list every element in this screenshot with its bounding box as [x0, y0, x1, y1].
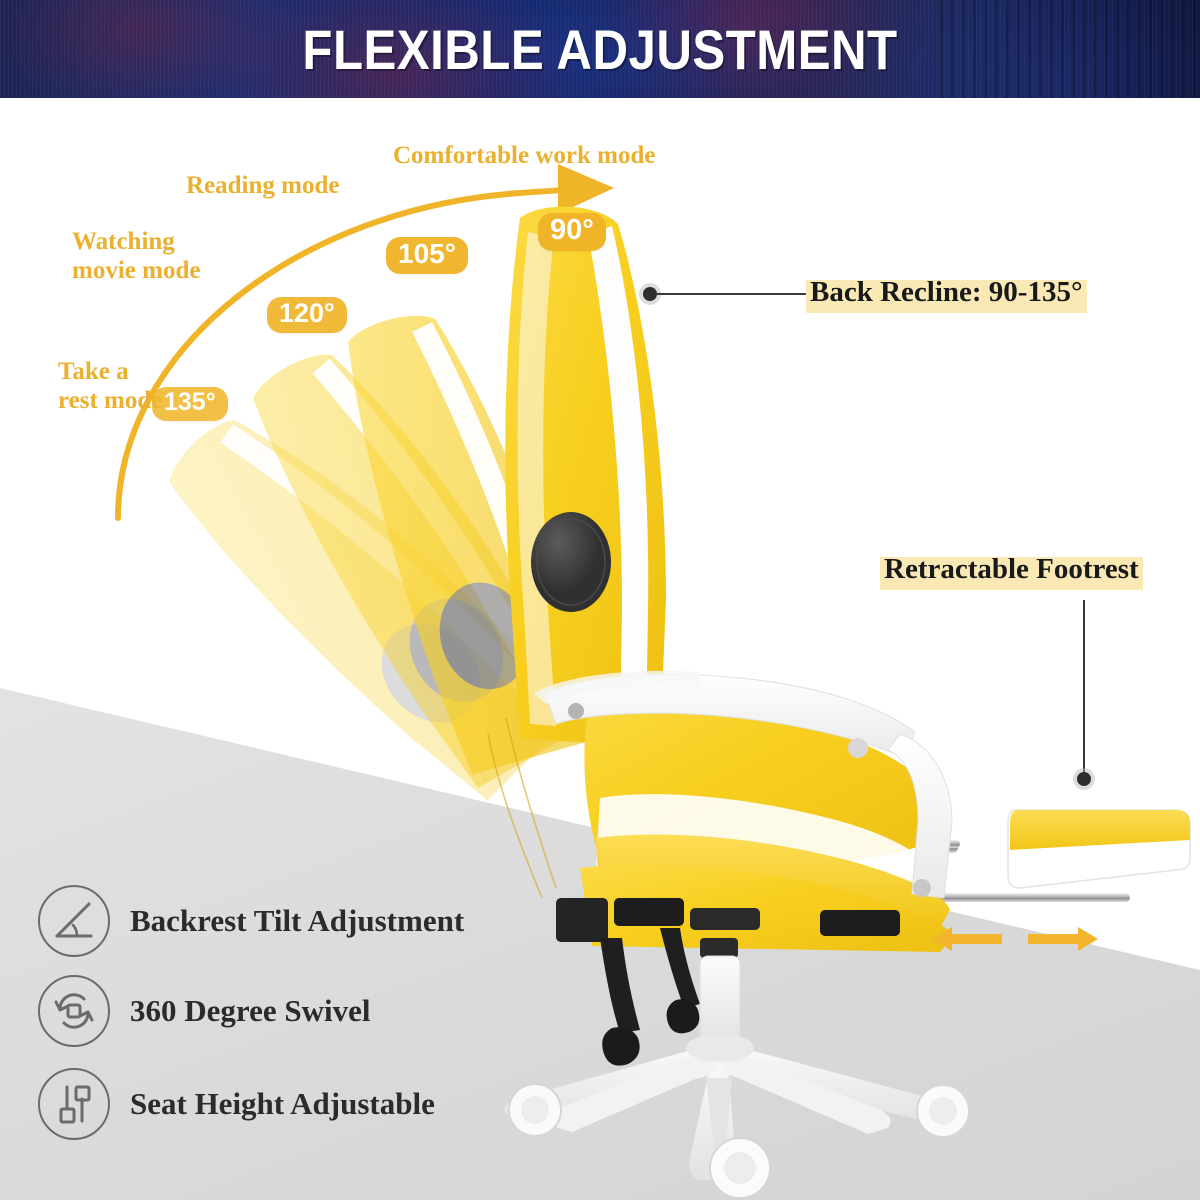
- footrest-leader-line: [1083, 600, 1085, 778]
- rotate-swivel-icon: [38, 975, 110, 1047]
- angle-badge-90: 90°: [538, 213, 606, 251]
- height-slider-icon: [38, 1068, 110, 1140]
- page-title: FLEXIBLE ADJUSTMENT: [72, 0, 1128, 98]
- angle-badge-120: 120°: [267, 297, 347, 333]
- infographic-stage: FLEXIBLE ADJUSTMENT Watching movie mode …: [0, 0, 1200, 1200]
- tilt-angle-icon: [38, 885, 110, 957]
- back-recline-leader-dot: [643, 287, 657, 301]
- footrest-leader-dot: [1077, 772, 1091, 786]
- feature-swivel-360[interactable]: 360 Degree Swivel: [38, 975, 370, 1047]
- angle-badge-105: 105°: [386, 237, 468, 274]
- mode-label-watching-movie: Watching movie mode: [72, 228, 200, 286]
- mode-label-take-a-rest: Take a rest mode: [58, 358, 162, 416]
- callout-back-recline: Back Recline: 90-135°: [806, 274, 1087, 313]
- feature-label-backrest-tilt: Backrest Tilt Adjustment: [130, 903, 464, 939]
- back-recline-leader-line: [657, 293, 807, 295]
- feature-seat-height[interactable]: Seat Height Adjustable: [38, 1068, 435, 1140]
- footrest-slide-arrows-icon: [930, 922, 1100, 956]
- feature-label-swivel-360: 360 Degree Swivel: [130, 993, 370, 1029]
- mode-label-comfortable-work: Comfortable work mode: [393, 142, 655, 171]
- mode-label-reading: Reading mode: [186, 172, 339, 201]
- feature-backrest-tilt[interactable]: Backrest Tilt Adjustment: [38, 885, 464, 957]
- feature-label-seat-height: Seat Height Adjustable: [130, 1086, 435, 1122]
- callout-retractable-footrest: Retractable Footrest: [880, 551, 1143, 590]
- angle-badge-135: 135°: [152, 387, 228, 421]
